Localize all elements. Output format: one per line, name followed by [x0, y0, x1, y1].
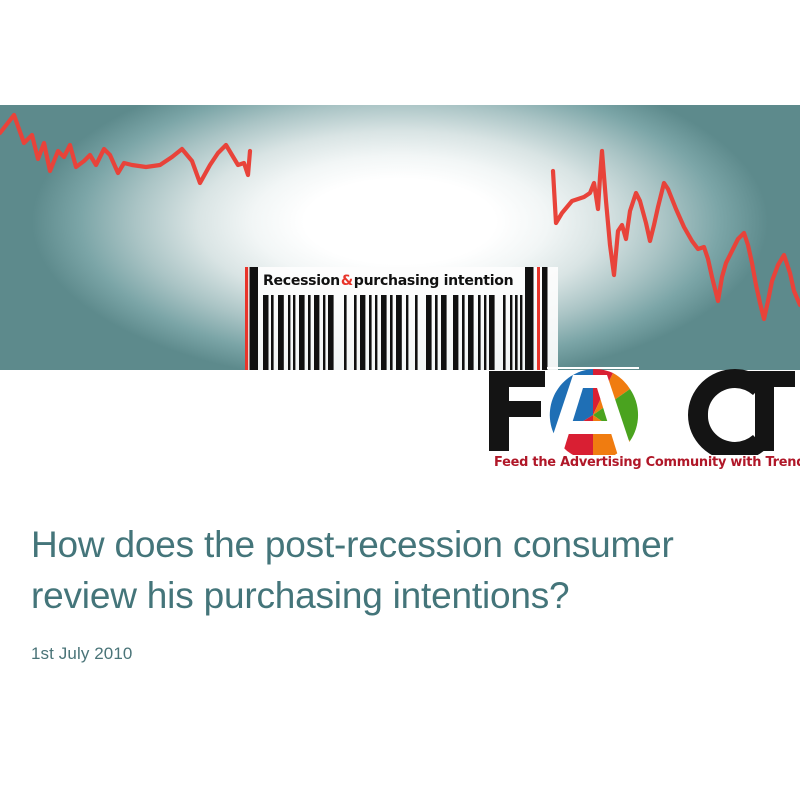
fact-tagline: Feed the Advertising Community with Tren… [494, 455, 794, 470]
page-title-line-1: How does the post-recession consumer [31, 524, 674, 565]
trend-line-left [0, 115, 250, 183]
logo-letter-f [489, 371, 545, 451]
barcode-graphic: Recession & purchasing intention [245, 267, 558, 370]
barcode-title: Recession & purchasing intention [263, 270, 513, 292]
title-block: How does the post-recession consumer rev… [31, 519, 761, 665]
barcode-guard-right [537, 267, 540, 370]
barcode-title-suffix: purchasing intention [354, 273, 514, 289]
fan-clip-top [547, 367, 639, 369]
fact-logo: Feed the Advertising Community with Tren… [487, 367, 797, 479]
document-date: 1st July 2010 [31, 621, 761, 665]
barcode-title-prefix: Recession [263, 273, 340, 289]
hero-banner: Recession & purchasing intention [0, 105, 800, 370]
page-title: How does the post-recession consumer rev… [31, 519, 761, 621]
barcode-guard-left [245, 267, 248, 370]
barcode-title-ampersand: & [340, 273, 354, 289]
logo-letter-t [734, 371, 795, 451]
fact-wordmark [487, 367, 797, 455]
logo-letter-a-fan [545, 367, 639, 455]
trend-line-right [553, 151, 800, 319]
page-title-line-2: review his purchasing intentions? [31, 575, 569, 616]
